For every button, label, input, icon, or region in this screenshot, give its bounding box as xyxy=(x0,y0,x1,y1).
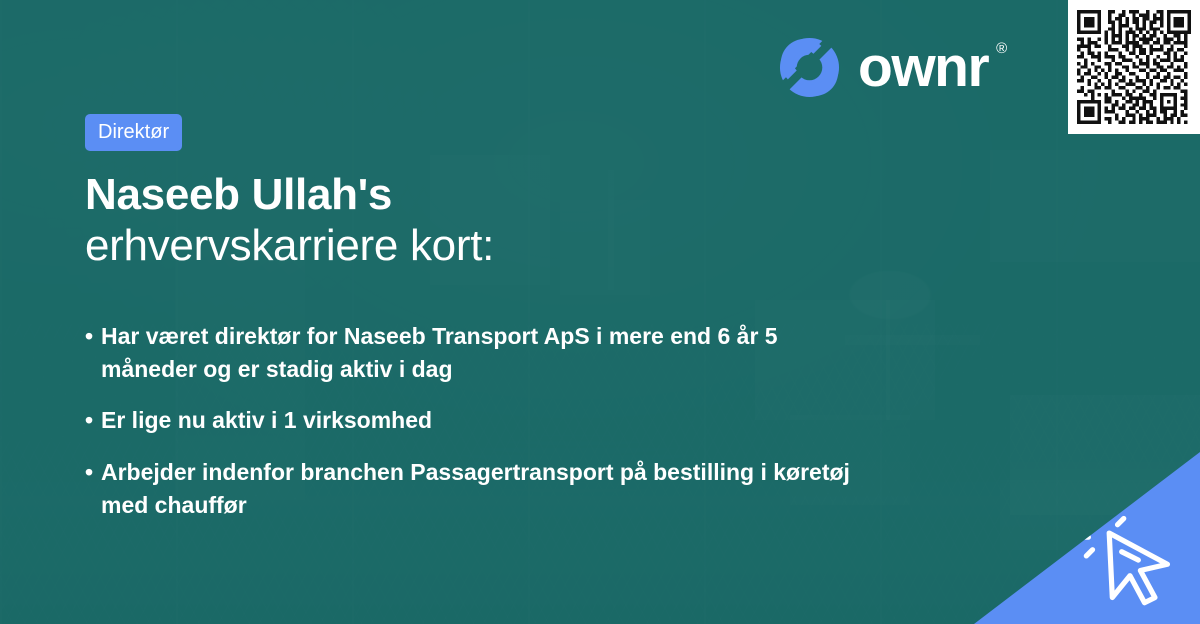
ownr-wordmark: ownr ® xyxy=(858,39,988,96)
qr-code-icon xyxy=(1077,9,1191,125)
registered-trademark-icon: ® xyxy=(996,41,1007,56)
title-line-1: Naseeb Ullah's xyxy=(85,169,925,220)
wordmark-text: ownr xyxy=(858,35,988,99)
list-item: Har været direktør for Naseeb Transport … xyxy=(85,320,855,385)
career-fact-list: Har været direktør for Naseeb Transport … xyxy=(85,320,925,521)
qr-code[interactable] xyxy=(1068,0,1200,134)
title-line-2: erhvervskarriere kort: xyxy=(85,220,925,271)
list-item: Er lige nu aktiv i 1 virksomhed xyxy=(85,404,855,437)
ownr-logo[interactable]: ownr ® xyxy=(778,36,988,99)
card-content: Direktør Naseeb Ullah's erhvervskarriere… xyxy=(85,114,925,540)
page-title: Naseeb Ullah's erhvervskarriere kort: xyxy=(85,169,925,272)
ownr-circle-logo-icon xyxy=(778,36,841,99)
business-career-card: ownr ® Direktør Naseeb Ullah's erhvervsk… xyxy=(0,0,1200,624)
role-badge: Direktør xyxy=(85,114,182,151)
list-item: Arbejder indenfor branchen Passagertrans… xyxy=(85,456,855,521)
